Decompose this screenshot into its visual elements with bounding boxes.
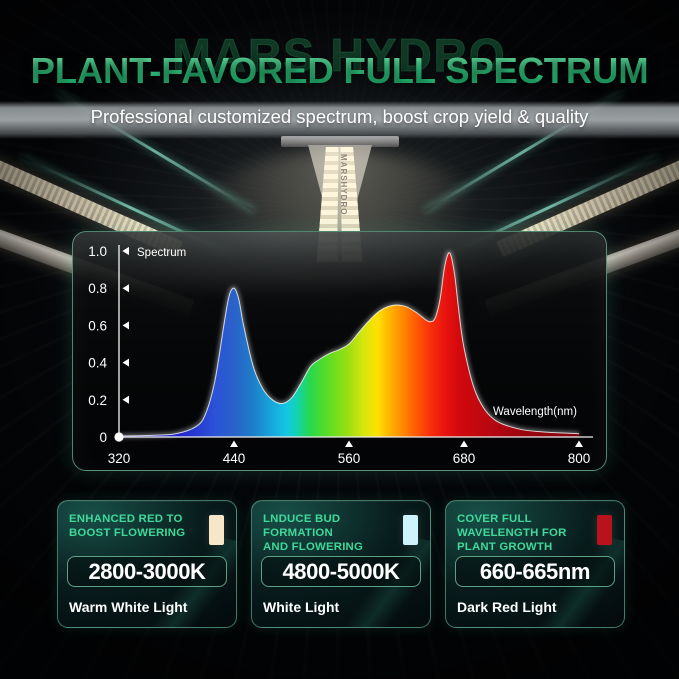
svg-text:320: 320 <box>108 451 131 466</box>
svg-text:Wavelength(nm): Wavelength(nm) <box>493 406 577 418</box>
card-value: 660-665nm <box>480 559 590 585</box>
card-value-pill: 2800-3000K <box>67 556 227 587</box>
card-footer: Dark Red Light <box>457 599 557 615</box>
svg-text:680: 680 <box>453 451 476 466</box>
card-warm-white[interactable]: ENHANCED RED TO BOOST FLOWERING 2800-300… <box>57 500 237 628</box>
svg-text:0.2: 0.2 <box>88 393 107 408</box>
card-footer: Warm White Light <box>69 599 187 615</box>
svg-text:Spectrum: Spectrum <box>137 247 186 259</box>
card-white[interactable]: LNDUCE BUD FORMATION AND FLOWERING 4800-… <box>251 500 431 628</box>
svg-text:440: 440 <box>223 451 246 466</box>
svg-text:0.4: 0.4 <box>88 356 107 371</box>
svg-text:1.0: 1.0 <box>88 244 107 259</box>
card-value-pill: 660-665nm <box>455 556 615 587</box>
promo-graphic: MARSHYDRO MARS HYDRO PLANT-FAVORED FULL … <box>0 0 679 679</box>
spectrum-chart-panel: 00.20.40.60.81.0Spectrum320440560680800W… <box>72 231 607 471</box>
card-heading: COVER FULL WAVELENGTH FOR PLANT GROWTH <box>457 513 613 555</box>
card-heading: ENHANCED RED TO BOOST FLOWERING <box>69 513 225 541</box>
card-dark-red[interactable]: COVER FULL WAVELENGTH FOR PLANT GROWTH 6… <box>445 500 625 628</box>
svg-text:0: 0 <box>99 430 107 445</box>
page-title: PLANT-FAVORED FULL SPECTRUM <box>0 50 679 92</box>
svg-text:0.8: 0.8 <box>88 281 107 296</box>
card-footer: White Light <box>263 599 339 615</box>
svg-text:800: 800 <box>568 451 591 466</box>
svg-text:0.6: 0.6 <box>88 318 107 333</box>
svg-text:560: 560 <box>338 451 361 466</box>
card-value: 4800-5000K <box>282 559 399 585</box>
card-value: 2800-3000K <box>88 559 205 585</box>
page-subtitle: Professional customized spectrum, boost … <box>0 106 679 128</box>
card-heading: LNDUCE BUD FORMATION AND FLOWERING <box>263 513 419 555</box>
card-value-pill: 4800-5000K <box>261 556 421 587</box>
spec-cards: ENHANCED RED TO BOOST FLOWERING 2800-300… <box>57 500 625 628</box>
spectrum-chart: 00.20.40.60.81.0Spectrum320440560680800W… <box>73 232 607 471</box>
